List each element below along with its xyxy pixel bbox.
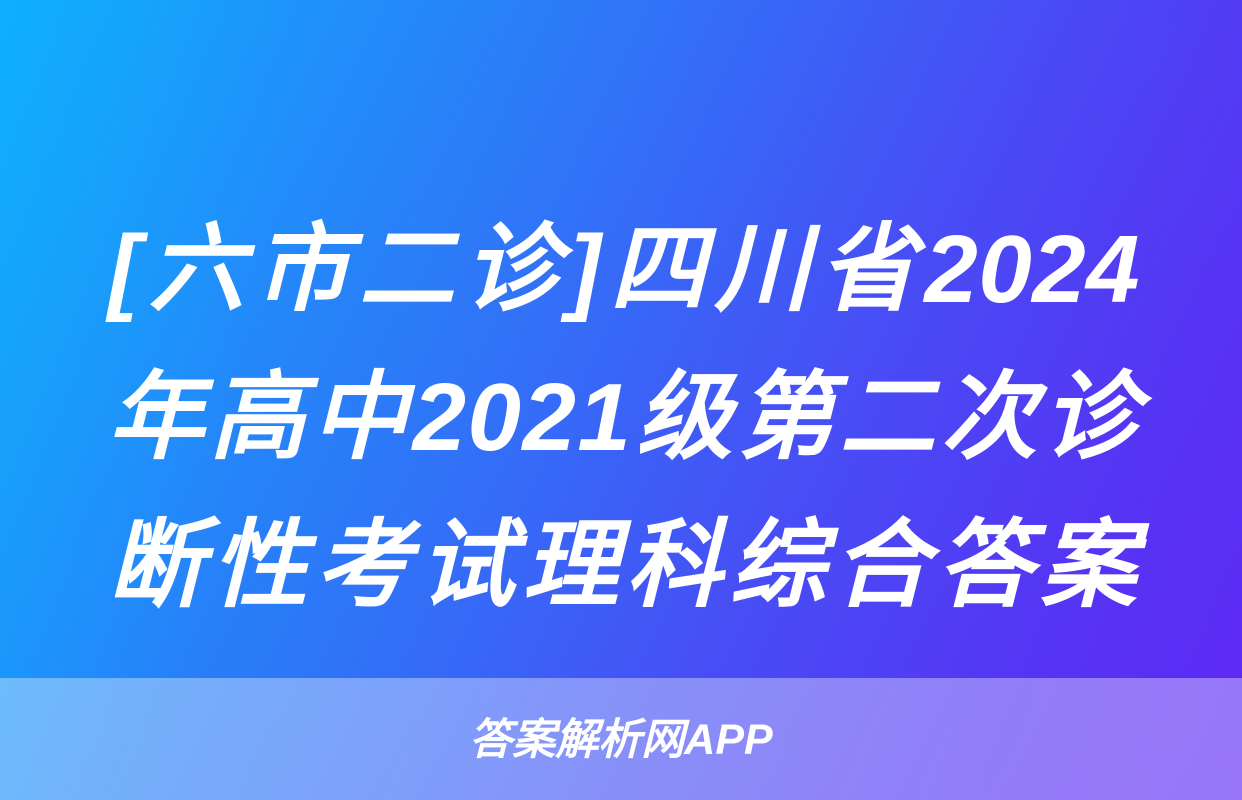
brand-watermark-label: 答案解析网APP (469, 719, 772, 762)
page-title: [六市二诊]四川省2024 年高中2021级第二次诊 断性考试理科综合答案 (108, 196, 1140, 640)
footer-brand-bar: 答案解析网APP (0, 678, 1242, 800)
title-line-3: 断性考试理科综合答案 (108, 492, 1140, 640)
title-line-2: 年高中2021级第二次诊 (108, 344, 1140, 492)
title-line-1: [六市二诊]四川省2024 (108, 196, 1140, 344)
poster-canvas: [六市二诊]四川省2024 年高中2021级第二次诊 断性考试理科综合答案 答案… (0, 0, 1242, 800)
